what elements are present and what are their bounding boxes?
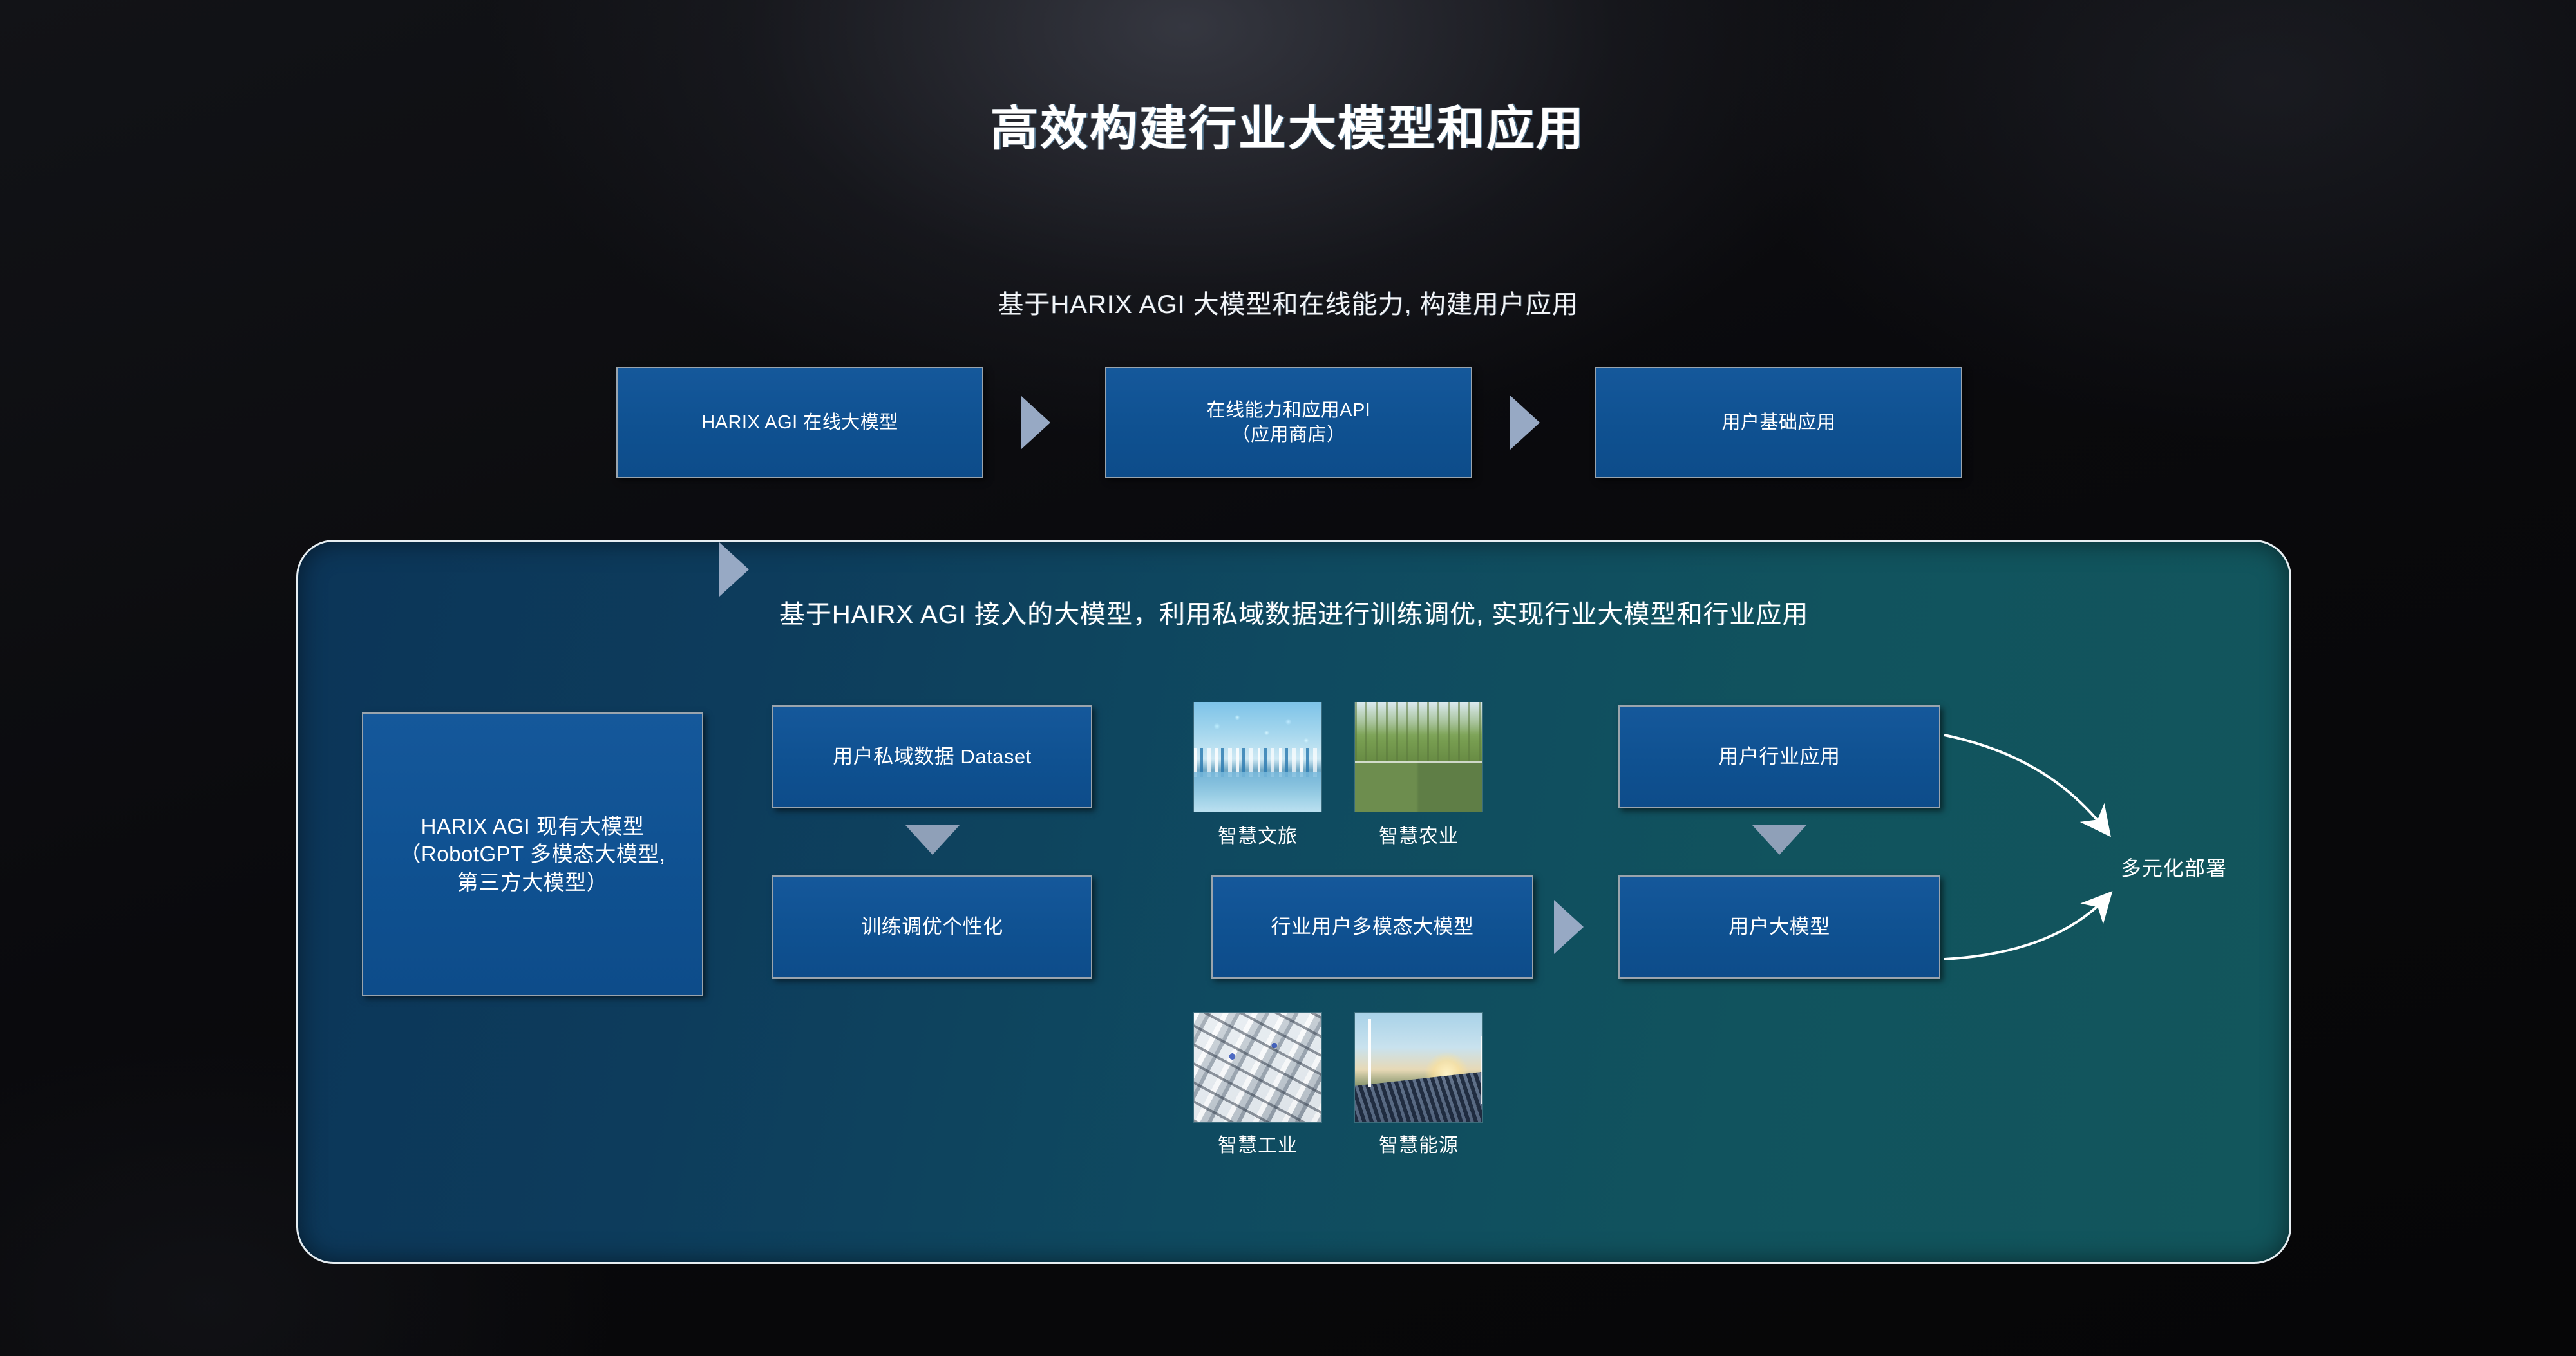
source-model-line3: 第三方大模型）	[457, 870, 609, 894]
top-flow-box-2[interactable]: 在线能力和应用API （应用商店）	[1105, 367, 1472, 478]
source-model-box[interactable]: HARIX AGI 现有大模型 （RobotGPT 多模态大模型, 第三方大模型…	[362, 712, 703, 996]
industry-model-panel: 基于HAIRX AGI 接入的大模型，利用私域数据进行训练调优, 实现行业大模型…	[296, 540, 2291, 1264]
smart-city-image	[1194, 702, 1321, 812]
slide-canvas: 高效构建行业大模型和应用 基于HARIX AGI 大模型和在线能力, 构建用户应…	[0, 0, 2576, 1356]
arrow-down-icon-2	[1752, 825, 1806, 855]
panel-headline: 基于HAIRX AGI 接入的大模型，利用私域数据进行训练调优, 实现行业大模型…	[298, 593, 2289, 631]
top-flow-box-1-label: HARIX AGI 在线大模型	[691, 410, 909, 435]
top-flow-box-3[interactable]: 用户基础应用	[1595, 367, 1962, 478]
top-flow-box-1[interactable]: HARIX AGI 在线大模型	[616, 367, 983, 478]
top-flow-box-2-label-line2: （应用商店）	[1231, 425, 1345, 445]
caption-smart-energy: 智慧能源	[1335, 1129, 1502, 1158]
private-dataset-label: 用户私域数据 Dataset	[822, 744, 1041, 770]
top-flow-box-3-label: 用户基础应用	[1711, 410, 1846, 435]
arrow-right-icon-2	[1510, 396, 1540, 450]
arrow-right-icon-3	[719, 542, 749, 597]
user-industry-app-label: 用户行业应用	[1709, 744, 1851, 770]
industry-multimodal-model-label: 行业用户多模态大模型	[1261, 914, 1484, 941]
arrow-right-icon-1	[1021, 396, 1050, 450]
training-tuning-label: 训练调优个性化	[851, 914, 1014, 941]
thumbnail-smart-industry[interactable]	[1193, 1012, 1322, 1123]
arrow-right-icon-4	[1554, 900, 1584, 954]
factory-automation-image	[1194, 1013, 1321, 1122]
source-model-line2: （RobotGPT 多模态大模型,	[399, 842, 665, 866]
caption-smart-industry: 智慧工业	[1174, 1129, 1341, 1158]
thumbnail-smart-tourism[interactable]	[1193, 702, 1322, 812]
user-large-model-box[interactable]: 用户大模型	[1618, 875, 1940, 979]
wind-solar-image	[1355, 1013, 1482, 1122]
user-industry-app-box[interactable]: 用户行业应用	[1618, 705, 1940, 808]
thumbnail-smart-energy[interactable]	[1354, 1012, 1483, 1123]
greenhouse-robot-image	[1355, 702, 1482, 812]
subtitle: 基于HARIX AGI 大模型和在线能力, 构建用户应用	[0, 283, 2576, 321]
user-large-model-label: 用户大模型	[1718, 914, 1841, 941]
industry-multimodal-model-box[interactable]: 行业用户多模态大模型	[1211, 875, 1533, 979]
top-flow-box-2-label-line1: 在线能力和应用API	[1207, 400, 1371, 421]
caption-smart-agriculture: 智慧农业	[1335, 820, 1502, 848]
training-tuning-box[interactable]: 训练调优个性化	[772, 875, 1092, 979]
arrow-down-icon-1	[905, 825, 960, 855]
source-model-line1: HARIX AGI 现有大模型	[421, 814, 645, 838]
deployment-label: 多元化部署	[2121, 852, 2227, 882]
caption-smart-tourism: 智慧文旅	[1174, 820, 1341, 848]
page-title: 高效构建行业大模型和应用	[0, 90, 2576, 159]
thumbnail-smart-agriculture[interactable]	[1354, 702, 1483, 812]
private-dataset-box[interactable]: 用户私域数据 Dataset	[772, 705, 1092, 808]
